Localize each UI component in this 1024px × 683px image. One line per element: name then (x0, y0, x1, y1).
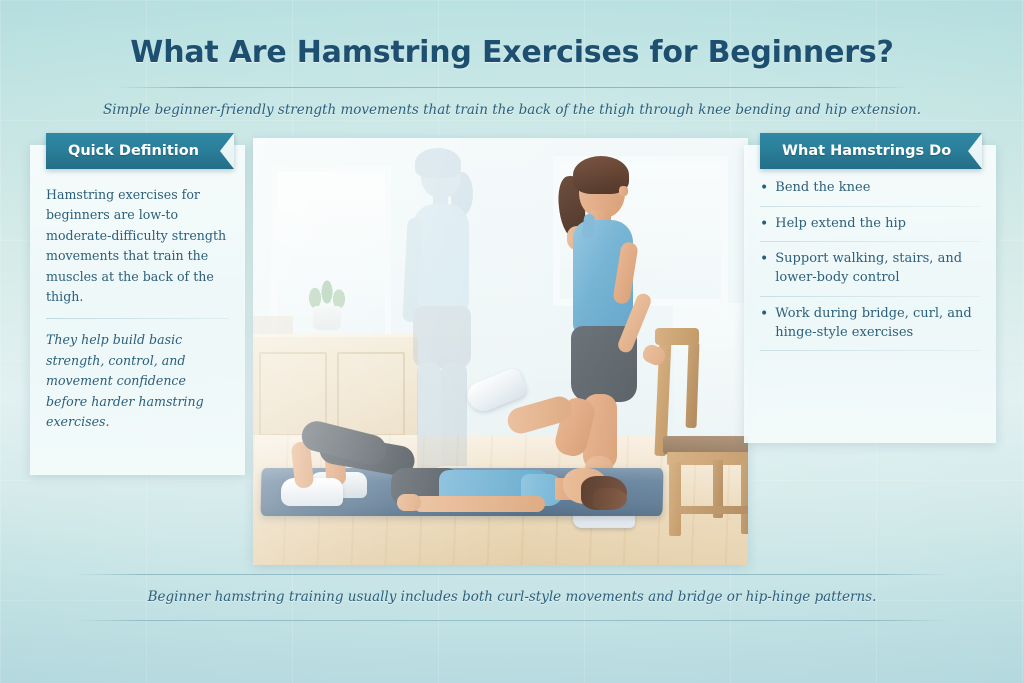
quick-definition-body: Hamstring exercises for beginners are lo… (30, 169, 245, 432)
list-item: • Help extend the hip (760, 215, 980, 251)
standing-hand (640, 342, 667, 367)
bullet-icon: • (760, 215, 768, 233)
list-item-divider (760, 241, 980, 242)
quick-definition-ribbon-label: Quick Definition (68, 143, 199, 159)
definition-divider (46, 318, 229, 319)
list-item: • Support walking, stairs, and lower-bod… (760, 250, 980, 304)
chair-leg-front-right (741, 462, 748, 534)
header: What Are Hamstring Exercises for Beginne… (0, 0, 1024, 118)
page-title: What Are Hamstring Exercises for Beginne… (0, 0, 1024, 70)
definition-paragraph-2: They help build basic strength, control,… (46, 330, 229, 432)
standing-nose (619, 186, 628, 196)
list-item-divider (760, 350, 980, 351)
what-hamstrings-do-ribbon-label: What Hamstrings Do (782, 143, 951, 159)
bullet-icon: • (760, 250, 768, 268)
exercise-photo (253, 138, 748, 565)
plant-pot (313, 306, 341, 330)
list-item-label: Work during bridge, curl, and hinge-styl… (775, 305, 980, 342)
hamstring-function-list: • Bend the knee • Help extend the hip • … (744, 169, 996, 359)
footer-divider-bottom (76, 620, 948, 621)
list-item-divider (760, 296, 980, 297)
list-item: • Bend the knee (760, 179, 980, 215)
what-hamstrings-do-panel: What Hamstrings Do • Bend the knee • Hel… (744, 145, 996, 443)
quick-definition-panel: Quick Definition Hamstring exercises for… (30, 145, 245, 475)
list-item: • Work during bridge, curl, and hinge-st… (760, 305, 980, 359)
list-item-label: Help extend the hip (775, 215, 906, 234)
bullet-icon: • (760, 305, 768, 323)
ghost-hair (415, 148, 461, 178)
lying-woman (263, 424, 603, 520)
shelf-box (253, 316, 293, 336)
footer: Beginner hamstring training usually incl… (0, 574, 1024, 621)
ghost-torso (413, 204, 469, 316)
ghost-shorts (413, 306, 471, 368)
lying-arm (413, 496, 545, 512)
page-subtitle: Simple beginner-friendly strength moveme… (0, 88, 1024, 118)
what-hamstrings-do-ribbon: What Hamstrings Do (760, 133, 982, 169)
infographic-canvas: What Are Hamstring Exercises for Beginne… (0, 0, 1024, 683)
quick-definition-ribbon: Quick Definition (46, 133, 234, 169)
footer-note: Beginner hamstring training usually incl… (0, 575, 1024, 605)
list-item-divider (760, 206, 980, 207)
bullet-icon: • (760, 179, 768, 197)
definition-paragraph-1: Hamstring exercises for beginners are lo… (46, 185, 229, 307)
list-item-label: Support walking, stairs, and lower-body … (775, 250, 980, 287)
lying-hair-ponytail (593, 488, 627, 510)
lying-hand (397, 494, 421, 511)
list-item-label: Bend the knee (775, 179, 870, 198)
